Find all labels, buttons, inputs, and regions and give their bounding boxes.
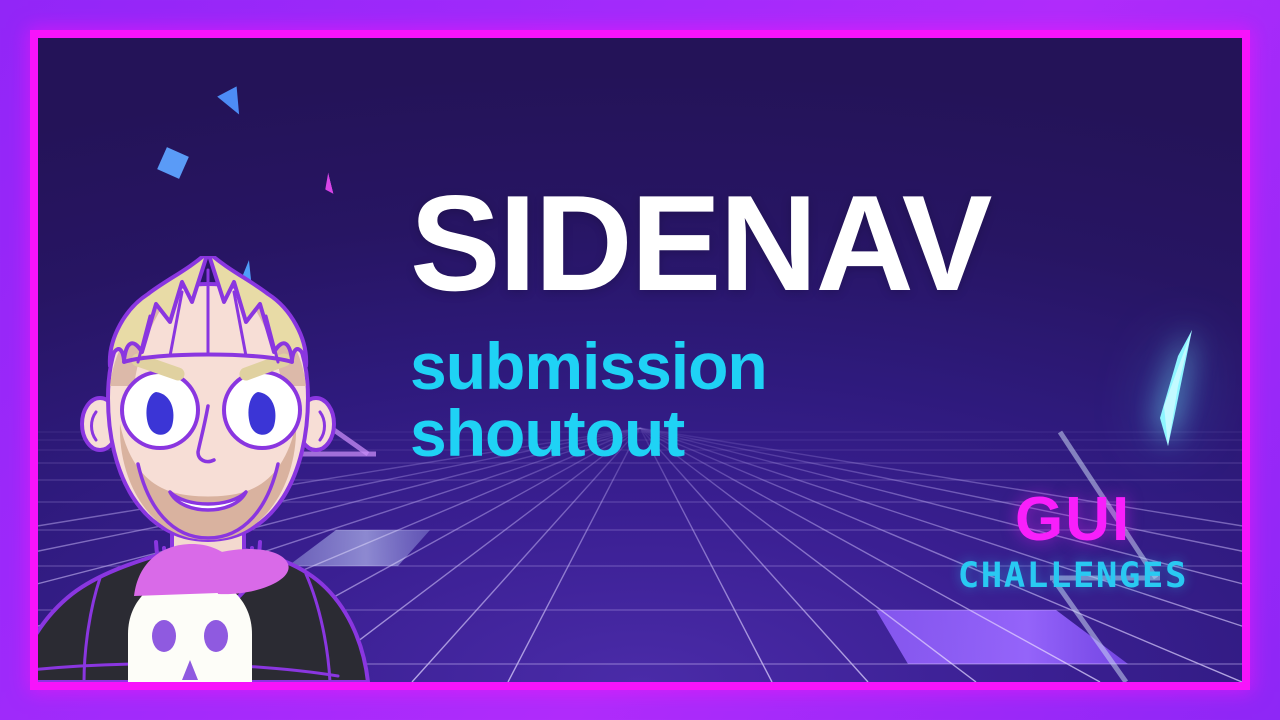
- stage-panel: SIDENAV submission shoutout GUI CHALLENG…: [38, 38, 1242, 682]
- brand-secondary-text: CHALLENGES: [958, 559, 1188, 594]
- thumbnail-canvas: SIDENAV submission shoutout GUI CHALLENG…: [0, 0, 1280, 720]
- brand-primary-text: GUI: [960, 489, 1186, 551]
- page-title: SIDENAV: [410, 178, 1190, 309]
- subtitle-line-1: submission: [410, 333, 1190, 400]
- subtitle-line-2: shoutout: [410, 400, 1190, 467]
- confetti-triangle-icon: [217, 86, 249, 119]
- confetti-sliver-icon: [321, 172, 333, 195]
- confetti-square-icon: [157, 147, 189, 179]
- host-avatar: [38, 256, 438, 682]
- headline-block: SIDENAV submission shoutout: [410, 178, 1190, 467]
- brand-lockup: GUI CHALLENGES: [960, 489, 1186, 594]
- subtitle-block: submission shoutout: [410, 333, 1190, 468]
